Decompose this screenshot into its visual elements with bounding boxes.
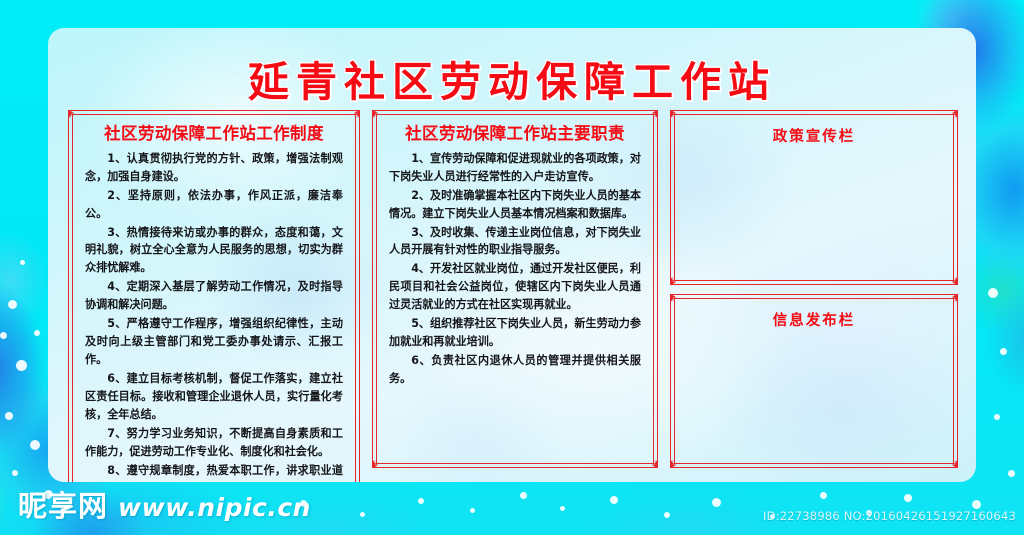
poster-canvas: 延青社区劳动保障工作站	[0, 0, 1024, 535]
image-id-line: ID:22738986 NO:20160426151927160643	[763, 509, 1016, 523]
panel-paragraph: 7、努力学习业务知识，不断提高自身素质和工作能力，促进劳动工作专业化、制度化和社…	[85, 425, 343, 461]
panel-content: 社区劳动保障工作站主要职责 1、宣传劳动保障和促进现就业的各项政策，对下岗失业人…	[378, 116, 652, 462]
panel-paragraph: 5、组织推荐社区下岗失业人员，新生劳动力参加就业和再就业培训。	[389, 315, 641, 351]
panel-heading: 社区劳动保障工作站工作制度	[85, 124, 343, 145]
panel-main-duties[interactable]: 社区劳动保障工作站主要职责 1、宣传劳动保障和促进现就业的各项政策，对下岗失业人…	[372, 110, 658, 468]
panel-paragraph: 6、负责社区内退休人员的管理并提供相关服务。	[389, 352, 641, 388]
panel-paragraph: 1、宣传劳动保障和促进现就业的各项政策，对下岗失业人员进行经常性的入户走访宣传。	[389, 150, 641, 186]
panel-grid: 社区劳动保障工作站工作制度 1、认真贯彻执行党的方针、政策，增强法制观念，加强自…	[68, 110, 958, 468]
panel-info-board[interactable]: 信息发布栏	[670, 294, 958, 469]
column-work-system: 社区劳动保障工作站工作制度 1、认真贯彻执行党的方针、政策，增强法制观念，加强自…	[68, 110, 360, 468]
page-title: 延青社区劳动保障工作站	[248, 48, 776, 108]
watermark-site-name: 昵享网	[18, 483, 108, 525]
panel-paragraph: 1、认真贯彻执行党的方针、政策，增强法制观念，加强自身建设。	[85, 150, 343, 186]
panel-policy-board[interactable]: 政策宣传栏	[670, 110, 958, 285]
panel-paragraph: 5、严格遵守工作程序，增强组织纪律性，主动及时向上级主管部门和党工委办事处请示、…	[85, 315, 343, 369]
panel-paragraph: 3、及时收集、传递主业岗位信息，对下岗失业人员开展有针对性的职业指导服务。	[389, 224, 641, 260]
panel-content: 社区劳动保障工作站工作制度 1、认真贯彻执行党的方针、政策，增强法制观念，加强自…	[74, 116, 354, 482]
panel-content: 信息发布栏	[676, 300, 952, 463]
panel-content: 政策宣传栏	[676, 116, 952, 279]
panel-heading: 信息发布栏	[687, 312, 941, 330]
title-bar: 延青社区劳动保障工作站	[48, 48, 976, 108]
panel-paragraph: 3、热情接待来访或办事的群众，态度和蔼，文明礼貌，树立全心全意为人民服务的思想，…	[85, 224, 343, 278]
panel-heading: 政策宣传栏	[687, 128, 941, 146]
panel-body: 1、宣传劳动保障和促进现就业的各项政策，对下岗失业人员进行经常性的入户走访宣传。…	[389, 150, 641, 389]
watermark: 昵享网 www.nipic.cn	[18, 483, 311, 525]
panel-heading: 社区劳动保障工作站主要职责	[389, 124, 641, 145]
column-notice-boards: 政策宣传栏	[670, 110, 958, 468]
panel-body: 1、认真贯彻执行党的方针、政策，增强法制观念，加强自身建设。 2、坚持原则，依法…	[85, 150, 343, 482]
panel-paragraph: 4、定期深入基层了解劳动工作情况，及时指导协调和解决问题。	[85, 278, 343, 314]
column-main-duties: 社区劳动保障工作站主要职责 1、宣传劳动保障和促进现就业的各项政策，对下岗失业人…	[372, 110, 658, 468]
panel-paragraph: 4、开发社区就业岗位，通过开发社区便民，利民项目和社会公益岗位，使辖区内下岗失业…	[389, 260, 641, 314]
panel-paragraph: 2、坚持原则，依法办事，作风正派，廉洁奉公。	[85, 187, 343, 223]
panel-paragraph: 6、建立目标考核机制，督促工作落实，建立社区责任目标。接收和管理企业退休人员，实…	[85, 370, 343, 424]
panel-paragraph: 2、及时准确掌握本社区内下岗失业人员的基本情况。建立下岗失业人员基本情况档案和数…	[389, 187, 641, 223]
watermark-url: www.nipic.cn	[118, 493, 311, 522]
poster-board: 延青社区劳动保障工作站	[48, 28, 976, 482]
panel-work-system[interactable]: 社区劳动保障工作站工作制度 1、认真贯彻执行党的方针、政策，增强法制观念，加强自…	[68, 110, 360, 482]
panel-paragraph: 8、遵守规章制度，热爱本职工作，讲求职业道德，立足岗位，发扬奉献精神。	[85, 462, 343, 482]
